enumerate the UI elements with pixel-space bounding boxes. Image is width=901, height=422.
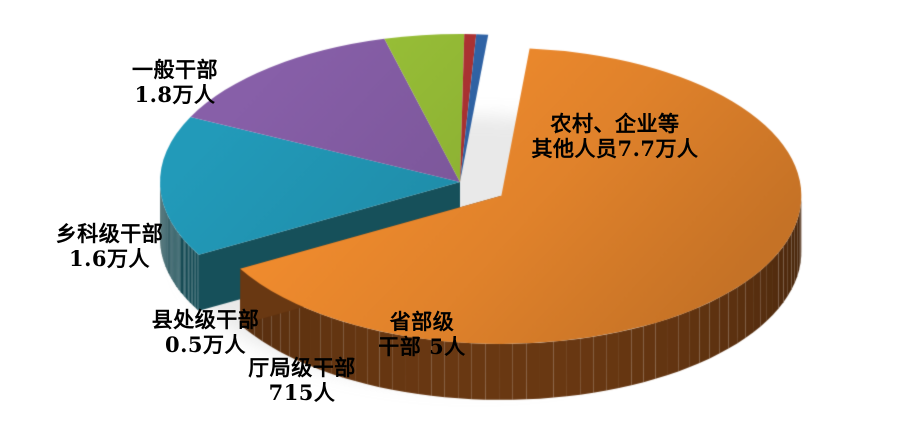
slice-label-county-cadres: 县处级干部 0.5万人 — [118, 308, 293, 358]
pie-chart-figure: 一般干部 1.8万人 乡科级干部 1.6万人 县处级干部 0.5万人 厅局级干部… — [0, 0, 901, 422]
slice-label-township-cadres: 乡科级干部 1.6万人 — [22, 222, 197, 272]
slice-label-bureau-cadres: 厅局级干部 715人 — [222, 356, 382, 406]
slice-label-other-personnel: 农村、企业等 其他人员7.7万人 — [500, 112, 730, 162]
slice-label-general-cadres: 一般干部 1.8万人 — [95, 58, 255, 108]
slice-label-provincial-cadres: 省部级 干部 5人 — [362, 310, 482, 360]
